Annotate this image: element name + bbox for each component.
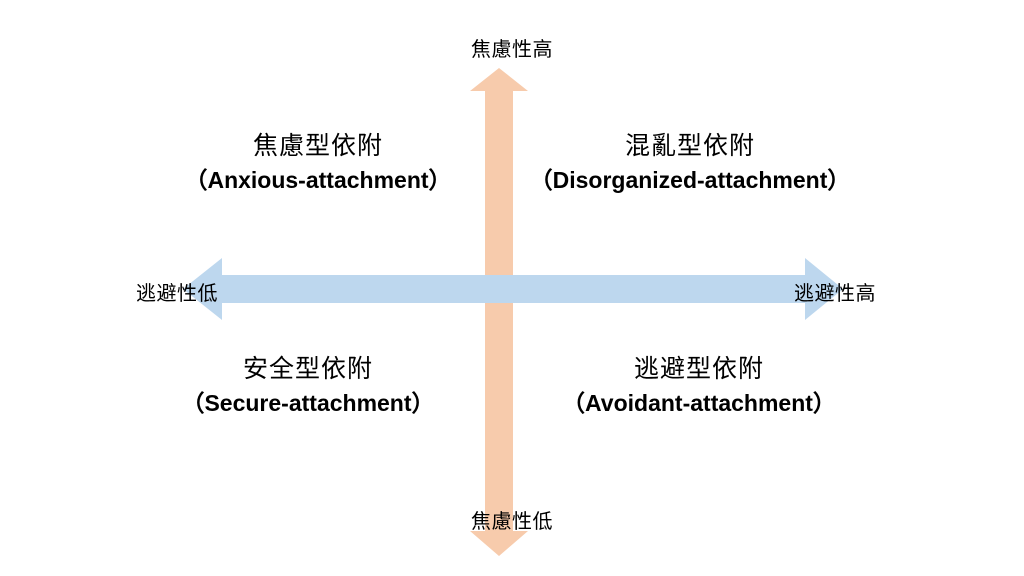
quadrant-disorganized-label-zh: 混亂型依附 — [520, 130, 860, 163]
quadrant-disorganized-attachment: 混亂型依附 （Disorganized-attachment） — [520, 130, 860, 195]
quadrant-secure-label-en: （Secure-attachment） — [148, 388, 468, 418]
quadrant-avoidant-label-en: （Avoidant-attachment） — [534, 388, 864, 418]
quadrant-anxious-attachment: 焦慮型依附 （Anxious-attachment） — [158, 130, 478, 195]
axis-label-anxiety-high: 焦慮性高 — [0, 33, 1024, 62]
quadrant-avoidant-label-zh: 逃避型依附 — [534, 353, 864, 386]
quadrant-disorganized-label-en: （Disorganized-attachment） — [520, 165, 860, 195]
axis-label-avoidance-low: 逃避性低 — [136, 277, 218, 306]
axis-label-anxiety-low: 焦慮性低 — [0, 505, 1024, 534]
quadrant-anxious-label-zh: 焦慮型依附 — [158, 130, 478, 163]
diagram-canvas: 焦慮性高 焦慮性低 逃避性低 逃避性高 焦慮型依附 （Anxious-attac… — [0, 0, 1024, 576]
quadrant-anxious-label-en: （Anxious-attachment） — [158, 165, 478, 195]
quadrant-secure-attachment: 安全型依附 （Secure-attachment） — [148, 353, 468, 418]
axis-label-avoidance-high: 逃避性高 — [794, 277, 876, 306]
quadrant-avoidant-attachment: 逃避型依附 （Avoidant-attachment） — [534, 353, 864, 418]
quadrant-secure-label-zh: 安全型依附 — [148, 353, 468, 386]
